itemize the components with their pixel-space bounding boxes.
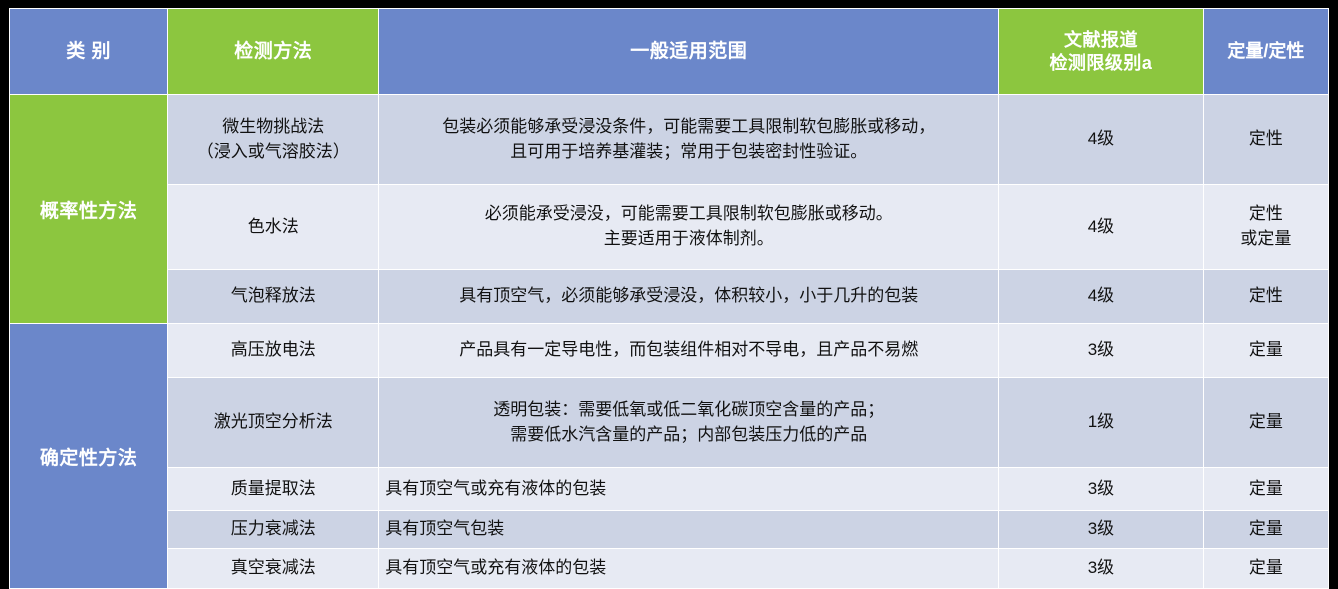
table-row: 气泡释放法具有顶空气，必须能够承受浸没，体积较小，小于几升的包装4级定性 — [10, 270, 1329, 324]
method-cell: 压力衰减法 — [168, 511, 379, 549]
scope-cell-text: 具有顶空气，必须能够承受浸没，体积较小，小于几升的包装 — [459, 286, 918, 305]
column-header-detection-limit-label: 文献报道 检测限级别a — [1049, 30, 1152, 73]
method-cell: 质量提取法 — [168, 468, 379, 511]
quantitative-qualitative-cell: 定量 — [1203, 511, 1328, 549]
column-header-quantitative-qualitative: 定量/定性 — [1203, 9, 1328, 95]
scope-cell: 具有顶空气或充有液体的包装 — [379, 549, 999, 589]
method-cell-text: 色水法 — [248, 217, 299, 236]
scope-cell: 包装必须能够承受浸没条件，可能需要工具限制软包膨胀或移动， 且可用于培养基灌装；… — [379, 95, 999, 185]
detection-limit-cell: 3级 — [999, 549, 1203, 589]
scope-cell-text: 透明包装：需要低氧或低二氧化碳顶空含量的产品； 需要低水汽含量的产品；内部包装压… — [493, 400, 884, 444]
method-cell: 气泡释放法 — [168, 270, 379, 324]
method-cell: 真空衰减法 — [168, 549, 379, 589]
scope-cell-text: 具有顶空气或充有液体的包装 — [385, 558, 606, 577]
detection-limit-cell: 3级 — [999, 511, 1203, 549]
scope-cell: 透明包装：需要低氧或低二氧化碳顶空含量的产品； 需要低水汽含量的产品；内部包装压… — [379, 378, 999, 468]
detection-limit-cell: 3级 — [999, 324, 1203, 378]
quantitative-qualitative-cell-text: 定量 — [1249, 340, 1283, 359]
screenshot-root: 类 别 检测方法 一般适用范围 文献报道 检测限级别a 定量/定性 — [0, 0, 1338, 584]
table-row: 压力衰减法具有顶空气包装3级定量 — [10, 511, 1329, 549]
quantitative-qualitative-cell: 定性 — [1203, 270, 1328, 324]
method-cell-text: 激光顶空分析法 — [214, 412, 333, 431]
detection-limit-cell: 4级 — [999, 185, 1203, 270]
table-row: 激光顶空分析法透明包装：需要低氧或低二氧化碳顶空含量的产品； 需要低水汽含量的产… — [10, 378, 1329, 468]
quantitative-qualitative-cell-text: 定量 — [1249, 519, 1283, 538]
column-header-method: 检测方法 — [168, 9, 379, 95]
table-row: 色水法必须能承受浸没，可能需要工具限制软包膨胀或移动。 主要适用于液体制剂。4级… — [10, 185, 1329, 270]
method-cell: 微生物挑战法 （浸入或气溶胶法） — [168, 95, 379, 185]
method-cell-text: 质量提取法 — [231, 479, 316, 498]
column-header-method-label: 检测方法 — [234, 41, 312, 62]
scope-cell: 具有顶空气包装 — [379, 511, 999, 549]
scope-cell-text: 必须能承受浸没，可能需要工具限制软包膨胀或移动。 主要适用于液体制剂。 — [485, 204, 893, 248]
column-header-scope: 一般适用范围 — [379, 9, 999, 95]
column-header-detection-limit: 文献报道 检测限级别a — [999, 9, 1203, 95]
table-header: 类 别 检测方法 一般适用范围 文献报道 检测限级别a 定量/定性 — [10, 9, 1329, 95]
scope-cell-text: 包装必须能够承受浸没条件，可能需要工具限制软包膨胀或移动， 且可用于培养基灌装；… — [442, 117, 935, 161]
detection-limit-cell: 3级 — [999, 468, 1203, 511]
detection-limit-cell-text: 4级 — [1088, 129, 1114, 148]
scope-cell: 产品具有一定导电性，而包装组件相对不导电，且产品不易燃 — [379, 324, 999, 378]
table-row: 真空衰减法具有顶空气或充有液体的包装3级定量 — [10, 549, 1329, 589]
detection-limit-cell: 4级 — [999, 270, 1203, 324]
detection-limit-cell-text: 3级 — [1088, 519, 1114, 538]
detection-limit-cell-text: 3级 — [1088, 479, 1114, 498]
method-cell-text: 气泡释放法 — [231, 286, 316, 305]
quantitative-qualitative-cell: 定性 或定量 — [1203, 185, 1328, 270]
detection-limit-cell: 1级 — [999, 378, 1203, 468]
scope-cell-text: 具有顶空气或充有液体的包装 — [385, 479, 606, 498]
column-header-category: 类 别 — [10, 9, 168, 95]
table-row: 概率性方法微生物挑战法 （浸入或气溶胶法）包装必须能够承受浸没条件，可能需要工具… — [10, 95, 1329, 185]
method-cell-text: 微生物挑战法 （浸入或气溶胶法） — [197, 117, 350, 161]
scope-cell-text: 具有顶空气包装 — [385, 519, 504, 538]
column-header-quantitative-qualitative-label: 定量/定性 — [1227, 41, 1304, 61]
quantitative-qualitative-cell-text: 定性 — [1249, 286, 1283, 305]
quantitative-qualitative-cell-text: 定性 — [1249, 129, 1283, 148]
category-cell: 概率性方法 — [10, 95, 168, 324]
package-integrity-methods-table: 类 别 检测方法 一般适用范围 文献报道 检测限级别a 定量/定性 — [9, 8, 1329, 589]
quantitative-qualitative-cell: 定性 — [1203, 95, 1328, 185]
quantitative-qualitative-cell: 定量 — [1203, 378, 1328, 468]
quantitative-qualitative-cell-text: 定量 — [1249, 558, 1283, 577]
quantitative-qualitative-cell: 定量 — [1203, 549, 1328, 589]
table-frame: 类 别 检测方法 一般适用范围 文献报道 检测限级别a 定量/定性 — [9, 8, 1329, 575]
quantitative-qualitative-cell: 定量 — [1203, 324, 1328, 378]
detection-limit-cell-text: 1级 — [1088, 412, 1114, 431]
quantitative-qualitative-cell-text: 定性 或定量 — [1240, 204, 1291, 248]
scope-cell: 具有顶空气，必须能够承受浸没，体积较小，小于几升的包装 — [379, 270, 999, 324]
detection-limit-cell-text: 3级 — [1088, 340, 1114, 359]
method-cell: 高压放电法 — [168, 324, 379, 378]
method-cell: 激光顶空分析法 — [168, 378, 379, 468]
quantitative-qualitative-cell-text: 定量 — [1249, 479, 1283, 498]
scope-cell-text: 产品具有一定导电性，而包装组件相对不导电，且产品不易燃 — [459, 340, 918, 359]
table-row: 确定性方法高压放电法产品具有一定导电性，而包装组件相对不导电，且产品不易燃3级定… — [10, 324, 1329, 378]
column-header-category-label: 类 别 — [66, 41, 111, 62]
detection-limit-cell: 4级 — [999, 95, 1203, 185]
method-cell-text: 高压放电法 — [231, 340, 316, 359]
scope-cell: 必须能承受浸没，可能需要工具限制软包膨胀或移动。 主要适用于液体制剂。 — [379, 185, 999, 270]
table-body: 概率性方法微生物挑战法 （浸入或气溶胶法）包装必须能够承受浸没条件，可能需要工具… — [10, 95, 1329, 589]
method-cell-text: 真空衰减法 — [231, 558, 316, 577]
method-cell: 色水法 — [168, 185, 379, 270]
detection-limit-cell-text: 3级 — [1088, 558, 1114, 577]
detection-limit-cell-text: 4级 — [1088, 217, 1114, 236]
quantitative-qualitative-cell: 定量 — [1203, 468, 1328, 511]
category-cell: 确定性方法 — [10, 324, 168, 589]
quantitative-qualitative-cell-text: 定量 — [1249, 412, 1283, 431]
column-header-scope-label: 一般适用范围 — [630, 41, 747, 62]
header-row: 类 别 检测方法 一般适用范围 文献报道 检测限级别a 定量/定性 — [10, 9, 1329, 95]
scope-cell: 具有顶空气或充有液体的包装 — [379, 468, 999, 511]
table-row: 质量提取法具有顶空气或充有液体的包装3级定量 — [10, 468, 1329, 511]
detection-limit-cell-text: 4级 — [1088, 286, 1114, 305]
method-cell-text: 压力衰减法 — [231, 519, 316, 538]
